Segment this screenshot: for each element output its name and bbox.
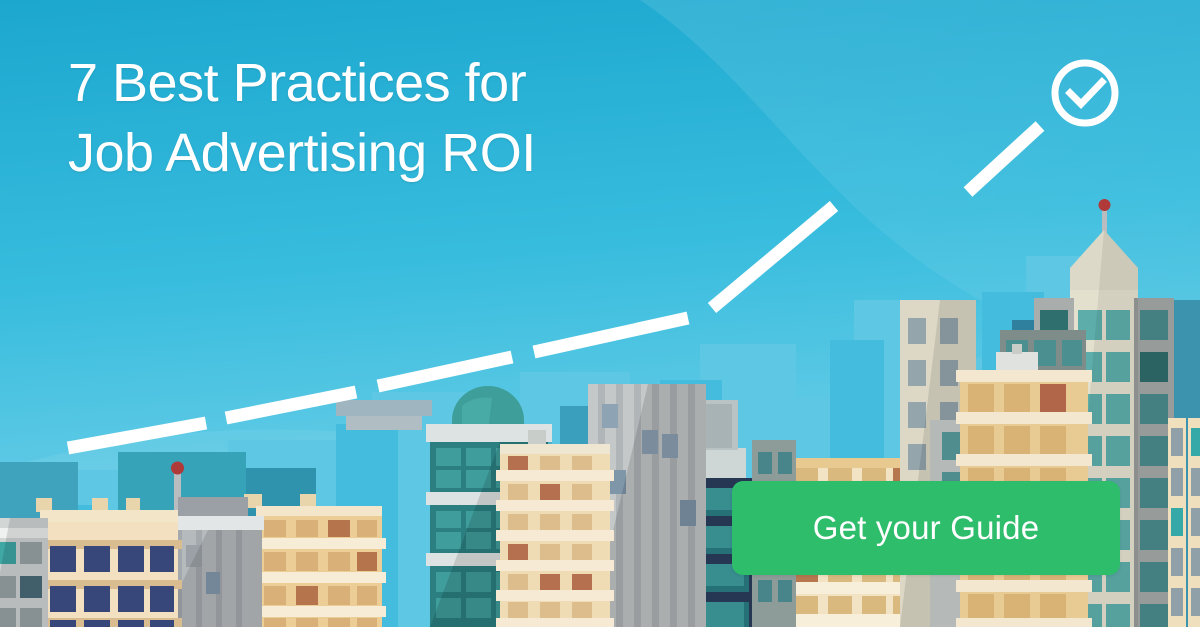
promo-banner: 7 Best Practices for Job Advertising ROI… <box>0 0 1200 627</box>
tan-building-navy-windows <box>36 498 182 627</box>
tan-strip-building-far-right <box>1168 418 1200 627</box>
tan-brick-tower-center <box>496 430 614 627</box>
antenna-light-3 <box>1099 199 1111 211</box>
foreground-shed <box>336 400 432 430</box>
antenna-light-2 <box>171 462 184 475</box>
office-far-left-edge <box>0 518 48 627</box>
tan-building-left <box>244 494 386 627</box>
get-your-guide-button[interactable]: Get your Guide <box>732 481 1120 575</box>
